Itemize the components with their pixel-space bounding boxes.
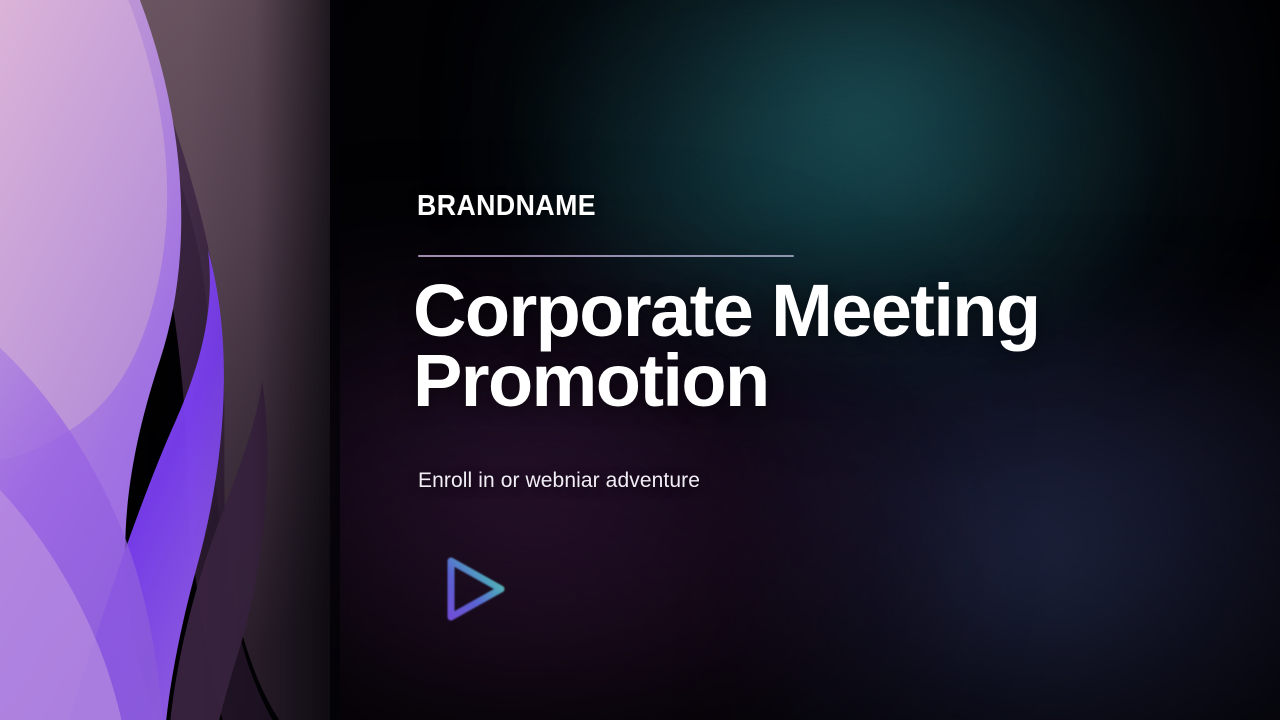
title-line-2: Promotion <box>413 346 1213 416</box>
title-line-1: Corporate Meeting <box>413 276 1213 346</box>
page-title: Corporate Meeting Promotion <box>413 276 1213 417</box>
presentation-slide: BRANDNAME Corporate Meeting Promotion En… <box>0 0 1280 720</box>
subtitle: Enroll in or webniar adventure <box>418 468 700 493</box>
play-triangle-icon[interactable] <box>435 549 515 629</box>
divider-rule <box>418 255 794 257</box>
decorative-ribbon-artwork <box>0 0 340 720</box>
slide-content: BRANDNAME Corporate Meeting Promotion En… <box>417 0 1217 720</box>
brand-name: BRANDNAME <box>417 192 596 221</box>
